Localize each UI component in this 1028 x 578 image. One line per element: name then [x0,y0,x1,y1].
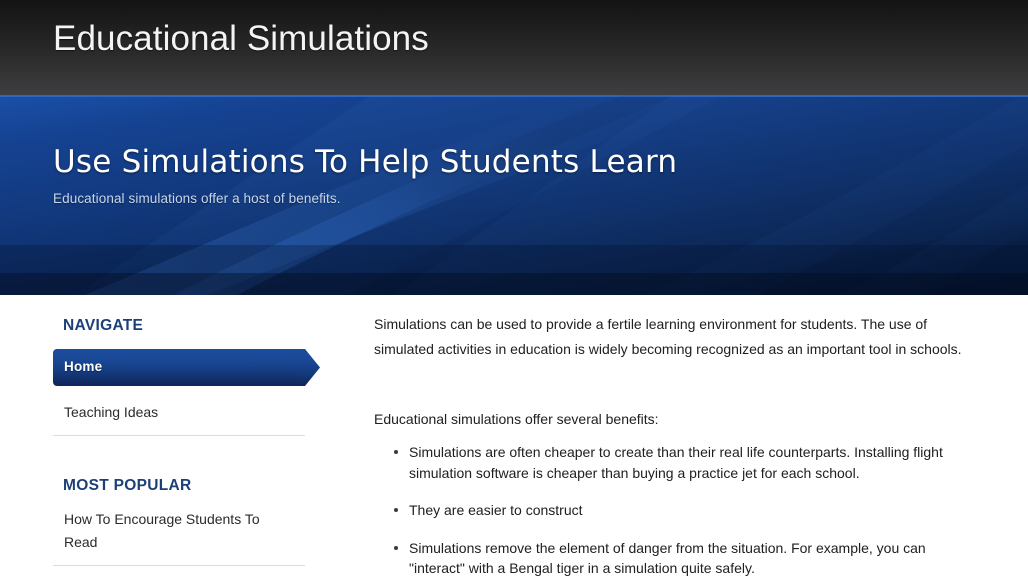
chevron-right-icon [296,349,320,386]
benefit-list-item: They are easier to construct [374,500,974,521]
sidebar-item-home[interactable]: Home [53,349,297,386]
site-header: Educational Simulations [0,0,1028,95]
page-root: Educational Simulations [0,0,1028,578]
bullet-icon [394,546,398,550]
hero-subtitle: Educational simulations offer a host of … [53,191,813,206]
intro-paragraph: Simulations can be used to provide a fer… [374,312,970,361]
sidebar-navigate-heading: NAVIGATE [63,317,143,335]
sidebar-divider-2 [53,565,305,566]
site-title: Educational Simulations [53,19,429,59]
benefit-list-item: Simulations remove the element of danger… [374,538,974,578]
sidebar-item-teaching-ideas[interactable]: Teaching Ideas [64,404,158,420]
benefit-list-item: Simulations are often cheaper to create … [374,442,974,483]
hero-banner: Use Simulations To Help Students Learn E… [0,95,1028,295]
bullet-icon [394,450,398,454]
sidebar-divider-1 [53,435,305,436]
list-item[interactable]: How To Encourage Students To Read [64,508,294,554]
bullet-icon [394,508,398,512]
benefit-text: Simulations are often cheaper to create … [409,444,943,481]
benefit-text: They are easier to construct [409,502,583,518]
sidebar-popular-heading: MOST POPULAR [63,477,191,495]
benefit-text: Simulations remove the element of danger… [409,540,926,577]
hero-title: Use Simulations To Help Students Learn [53,143,813,181]
hero-text-block: Use Simulations To Help Students Learn E… [53,143,813,206]
content-area: NAVIGATE Home [0,295,1028,578]
sidebar-item-home-label: Home [64,359,102,374]
benefits-lead-paragraph: Educational simulations offer several be… [374,407,970,432]
sidebar-nav-list: Home Teaching Ideas [53,349,320,386]
benefits-list: Simulations are often cheaper to create … [374,442,974,578]
